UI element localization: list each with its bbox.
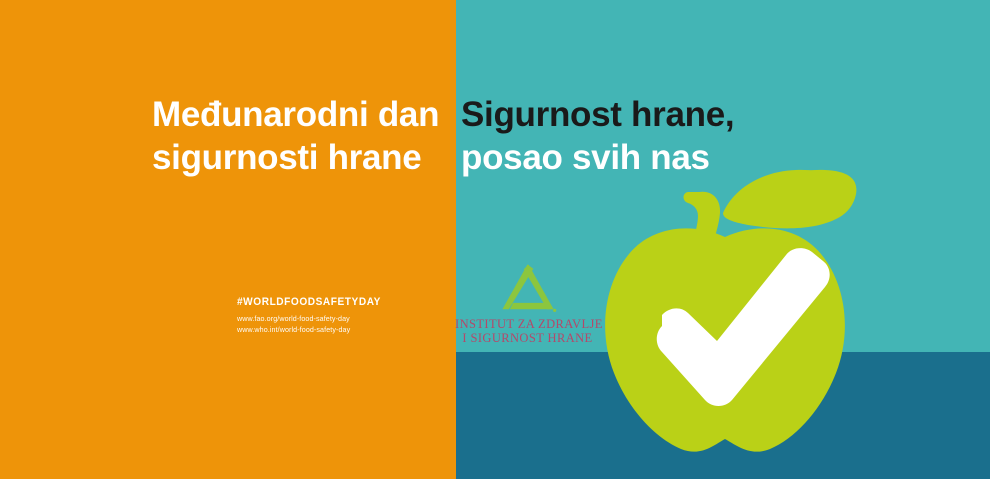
who-url[interactable]: www.who.int/world-food-safety-day bbox=[237, 325, 446, 336]
institute-logo-text-line-1: INSTITUT ZA ZDRAVLJE bbox=[455, 317, 600, 331]
campaign-info-block: #WORLDFOODSAFETYDAY www.fao.org/world-fo… bbox=[237, 296, 457, 336]
campaign-urls: www.fao.org/world-food-safety-day www.wh… bbox=[237, 314, 446, 336]
campaign-hashtag: #WORLDFOODSAFETYDAY bbox=[237, 296, 439, 308]
triangle-dot bbox=[553, 309, 556, 312]
institute-logo-text: INSTITUT ZA ZDRAVLJE I SIGURNOST HRANE bbox=[455, 317, 600, 345]
triangle-right-stroke bbox=[523, 264, 553, 309]
apple-artwork bbox=[560, 130, 890, 460]
left-headline: Međunarodni dan sigurnosti hrane bbox=[152, 94, 452, 179]
poster-canvas: Međunarodni dan sigurnosti hrane Sigurno… bbox=[0, 0, 990, 479]
left-headline-line-1: Međunarodni dan bbox=[152, 94, 452, 137]
apple-leaf-tip bbox=[723, 170, 852, 228]
institute-logo: INSTITUT ZA ZDRAVLJE I SIGURNOST HRANE bbox=[455, 262, 600, 345]
triangle-logo-icon bbox=[496, 262, 560, 316]
institute-logo-text-line-2: I SIGURNOST HRANE bbox=[455, 331, 600, 345]
left-headline-line-2: sigurnosti hrane bbox=[152, 137, 452, 180]
fao-url[interactable]: www.fao.org/world-food-safety-day bbox=[237, 314, 446, 325]
triangle-bottom-stroke bbox=[509, 303, 551, 309]
apple-with-checkmark-icon bbox=[560, 130, 890, 460]
left-orange-panel bbox=[0, 0, 456, 479]
